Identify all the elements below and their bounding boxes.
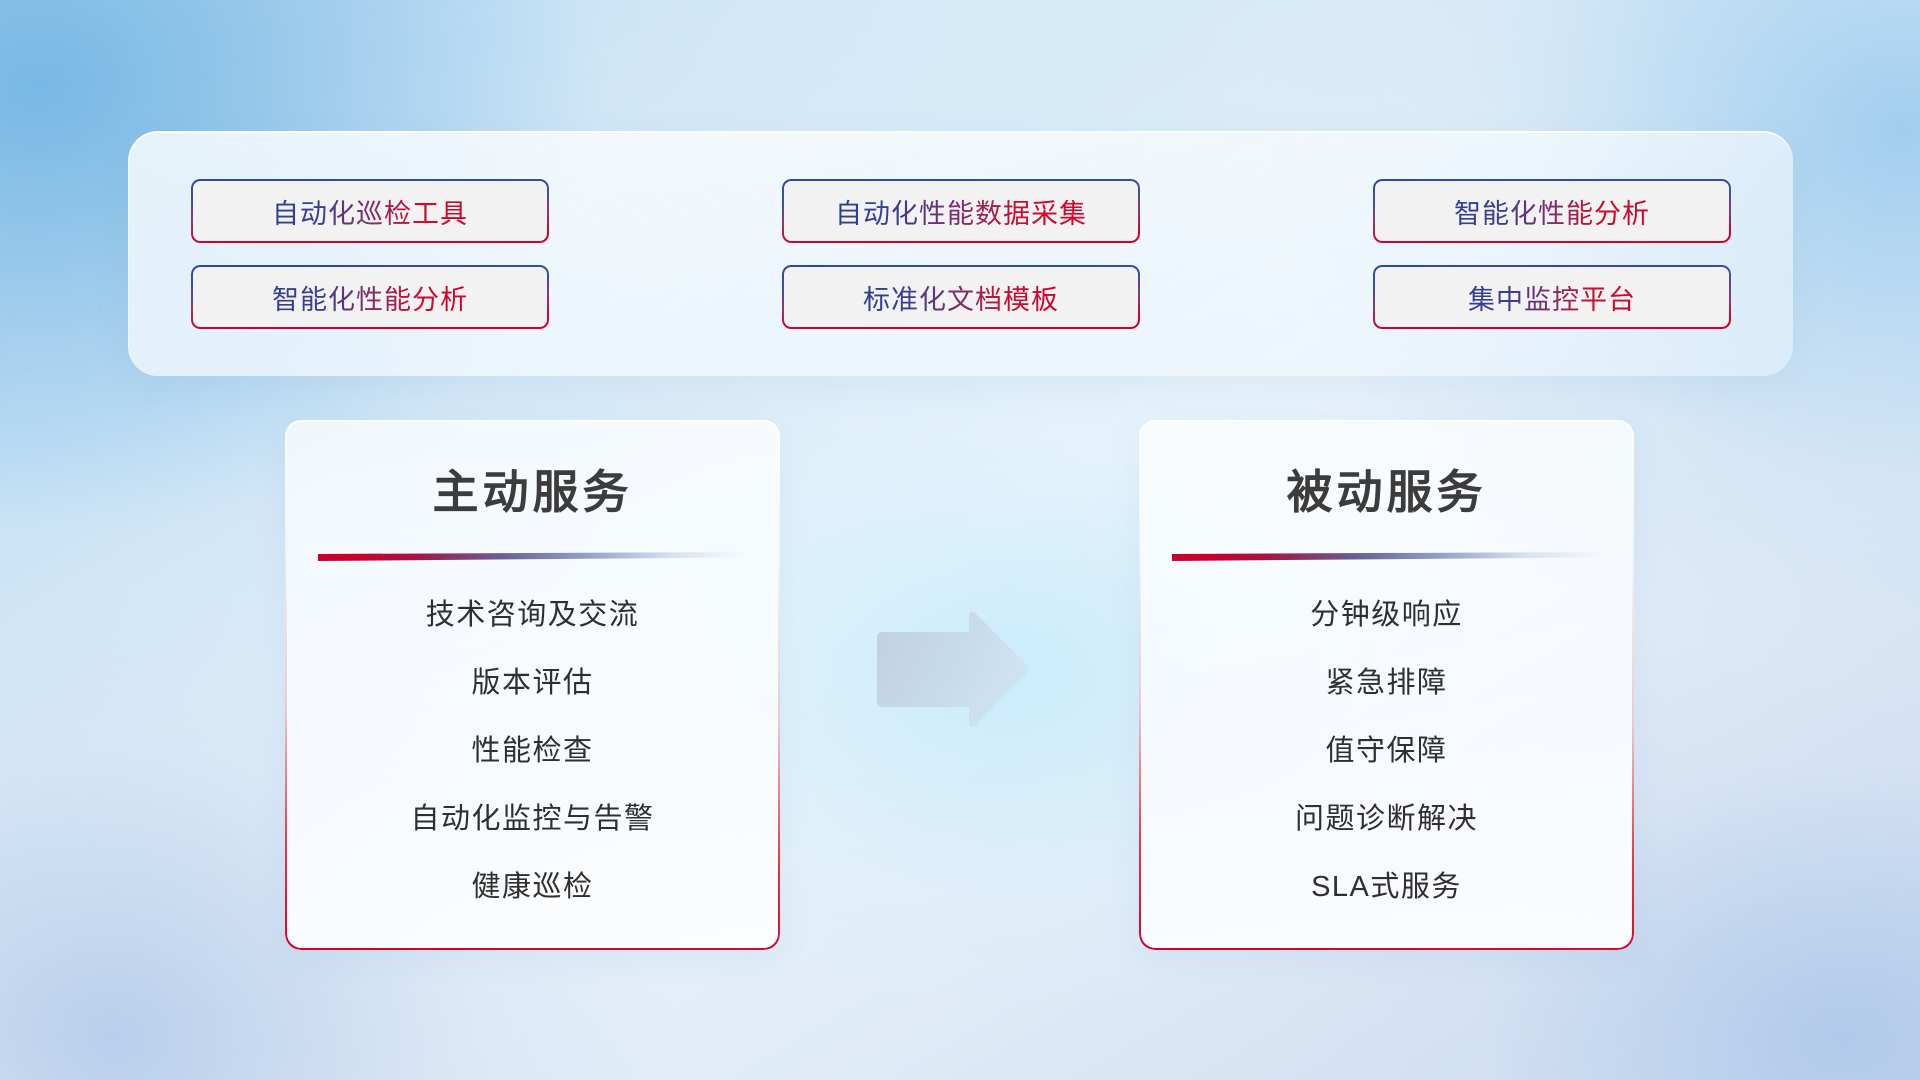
capability-pill-standard-doc-template[interactable]: 标准化文档模板: [782, 265, 1140, 329]
card-title: 被动服务: [1139, 456, 1634, 522]
card-divider: [318, 552, 748, 561]
capability-pill-intelligent-perf-analysis[interactable]: 智能化性能分析: [1373, 179, 1731, 243]
list-item: 版本评估: [471, 659, 593, 701]
list-item: 值守保障: [1325, 727, 1447, 769]
slide-canvas: 自动化巡检工具 自动化性能数据采集 智能化性能分析 智能化性能分析 标准化文档模…: [0, 0, 1920, 1080]
service-card-passive: 被动服务 分钟级响应 紧急排障 值守保障 问题诊断解决 SLA式服务: [1139, 420, 1634, 950]
list-item: 紧急排障: [1325, 659, 1447, 701]
list-item: 自动化监控与告警: [410, 795, 654, 837]
capabilities-panel: 自动化巡检工具 自动化性能数据采集 智能化性能分析 智能化性能分析 标准化文档模…: [128, 131, 1793, 376]
capability-pill-auto-inspection-tool[interactable]: 自动化巡检工具: [191, 179, 549, 243]
capability-pill-central-monitoring-platform[interactable]: 集中监控平台: [1373, 265, 1731, 329]
capability-pill-label: 自动化性能数据采集: [835, 192, 1087, 231]
list-item: 性能检查: [471, 727, 593, 769]
card-item-list: 分钟级响应 紧急排障 值守保障 问题诊断解决 SLA式服务: [1139, 591, 1634, 905]
capability-pill-label: 自动化巡检工具: [272, 192, 468, 231]
capability-pill-label: 标准化文档模板: [863, 278, 1059, 317]
arrow-right-icon: [872, 608, 1032, 733]
capability-pill-intelligent-perf-analysis-2[interactable]: 智能化性能分析: [191, 265, 549, 329]
capability-pill-label: 集中监控平台: [1468, 278, 1636, 317]
list-item: 分钟级响应: [1310, 591, 1463, 633]
list-item: 问题诊断解决: [1295, 795, 1478, 837]
list-item: 健康巡检: [471, 863, 593, 905]
capability-pill-label: 智能化性能分析: [272, 278, 468, 317]
capability-row-1: 自动化巡检工具 自动化性能数据采集 智能化性能分析: [191, 179, 1731, 243]
list-item: SLA式服务: [1311, 863, 1462, 905]
card-item-list: 技术咨询及交流 版本评估 性能检查 自动化监控与告警 健康巡检: [285, 591, 780, 905]
list-item: 技术咨询及交流: [426, 591, 640, 633]
capability-pill-auto-perf-data-collection[interactable]: 自动化性能数据采集: [782, 179, 1140, 243]
card-title: 主动服务: [285, 456, 780, 522]
capability-row-2: 智能化性能分析 标准化文档模板 集中监控平台: [191, 265, 1731, 329]
card-divider: [1172, 552, 1602, 561]
service-card-active: 主动服务 技术咨询及交流 版本评估 性能检查 自动化监控与告警 健康巡检: [285, 420, 780, 950]
capability-pill-label: 智能化性能分析: [1454, 192, 1650, 231]
